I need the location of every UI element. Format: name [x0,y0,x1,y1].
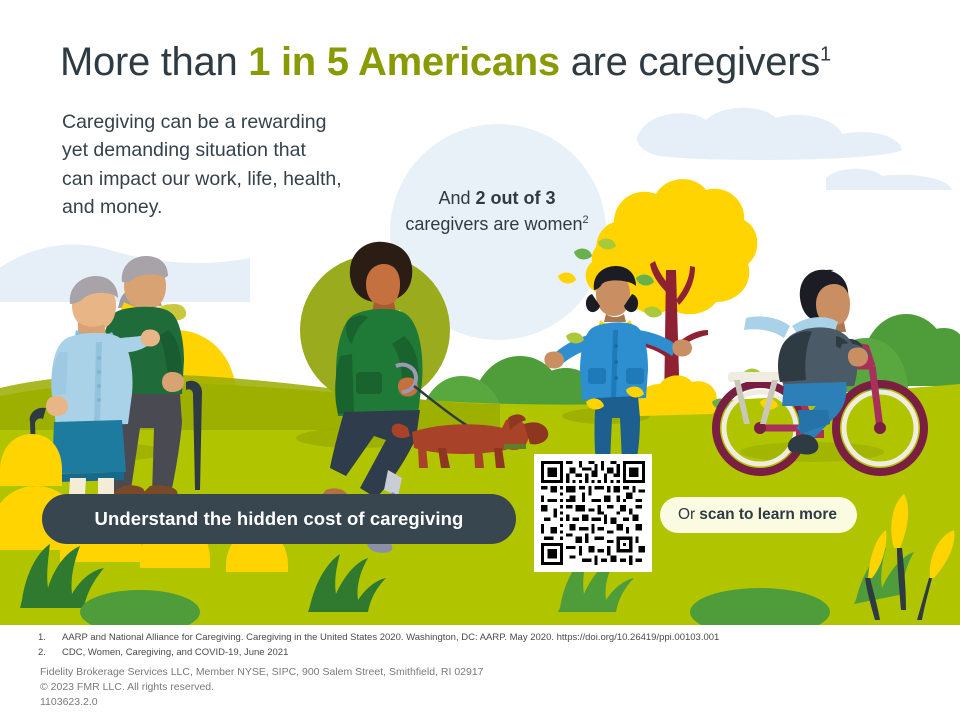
footer: 1. AARP and National Alliance for Caregi… [0,625,960,720]
legal-disclosure: Fidelity Brokerage Services LLC, Member … [40,665,484,710]
footnote-number: 2. [38,646,62,661]
footnotes-list: 1. AARP and National Alliance for Caregi… [38,631,868,660]
page-title: More than 1 in 5 Americans are caregiver… [60,40,930,85]
intro-paragraph: Caregiving can be a rewarding yet demand… [62,108,342,221]
footnote-item: 1. AARP and National Alliance for Caregi… [38,631,868,646]
callout-tail: caregivers are women [405,214,582,234]
qr-code[interactable] [534,454,652,572]
legal-line-entity: Fidelity Brokerage Services LLC, Member … [40,665,484,680]
scan-to-learn-more-label[interactable]: Orscan to learn more [660,497,857,533]
footnote-text: AARP and National Alliance for Caregivin… [62,631,719,646]
footnote-number: 1. [38,631,62,646]
footnote-item: 2. CDC, Women, Caregiving, and COVID-19,… [38,646,868,661]
infographic-poster: More than 1 in 5 Americans are caregiver… [0,0,960,720]
callout-strong-2: 3 [546,188,556,208]
legal-line-copyright: © 2023 FMR LLC. All rights reserved. [40,680,484,695]
callout-statistic: And 2 out of 3 caregivers are women2 [404,186,590,237]
footnote-text: CDC, Women, Caregiving, and COVID-19, Ju… [62,646,288,661]
callout-lead: And [438,188,475,208]
scan-strong-text: scan to learn more [699,506,837,524]
headline-footnote-ref: 1 [820,44,831,66]
understand-cost-button[interactable]: Understand the hidden cost of caregiving [42,494,516,544]
headline-accent: 1 in 5 Americans [248,40,560,84]
scan-prefix: Or [678,506,695,524]
callout-strong-1: 2 out of [476,188,541,208]
headline-after: are caregivers [560,40,820,84]
headline-before: More than [60,40,248,84]
callout-footnote-ref: 2 [582,214,588,226]
legal-line-id: 1103623.2.0 [40,695,484,710]
